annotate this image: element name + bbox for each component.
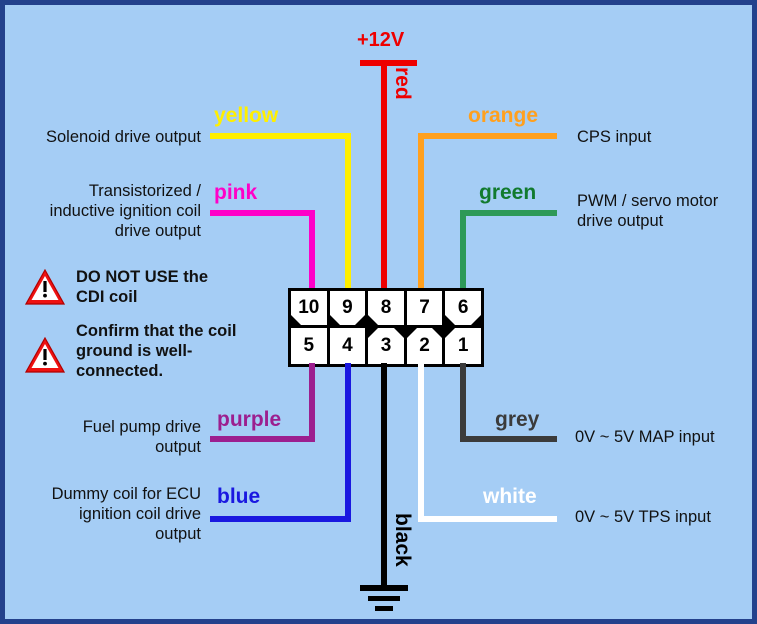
pin-5[interactable]: 5	[291, 328, 330, 365]
pink-wire-vertical	[309, 210, 315, 292]
fuel-pump-label-line1: Fuel pump drive	[5, 417, 201, 437]
purple-wire-horizontal	[210, 436, 315, 442]
warning-text-2-line1: Confirm that the coil	[76, 322, 236, 340]
pin-4[interactable]: 4	[330, 328, 369, 365]
warning-text-2: Confirm that the coil ground is well- co…	[76, 321, 236, 381]
pin-6-notch-left-icon	[445, 315, 455, 325]
grey-wire-name: grey	[495, 409, 539, 431]
pin-7-label: 7	[419, 298, 430, 317]
orange-wire-horizontal	[418, 133, 557, 139]
white-wire-horizontal	[418, 516, 557, 522]
pin-1-label: 1	[458, 336, 469, 355]
purple-wire-vertical	[309, 363, 315, 442]
fuel-pump-label-line2: output	[5, 437, 201, 457]
warning-triangle-icon	[25, 269, 65, 310]
transistorized-coil-label-line3: drive output	[5, 221, 201, 241]
power-label: +12V	[357, 29, 404, 51]
pin-3-label: 3	[381, 336, 392, 355]
ground-symbol-bar-3	[375, 606, 393, 611]
pin-9-label: 9	[342, 298, 353, 317]
black-wire-name: black	[390, 513, 414, 567]
pin-10[interactable]: 10	[291, 291, 330, 325]
dummy-coil-label-line1: Dummy coil for ECU	[5, 484, 201, 504]
pin-2-notch-left-icon	[407, 328, 417, 338]
connector-bottom-row: 5 4 3 2 1	[291, 328, 481, 365]
pin-3-notch-left-icon	[368, 328, 378, 338]
white-wire-vertical	[418, 363, 424, 522]
pin-8[interactable]: 8	[368, 291, 407, 325]
grey-wire-horizontal	[460, 436, 557, 442]
pin-7[interactable]: 7	[407, 291, 446, 325]
pin-9[interactable]: 9	[330, 291, 369, 325]
red-wire-vertical	[381, 60, 387, 292]
pin-6[interactable]: 6	[445, 291, 481, 325]
pin-3[interactable]: 3	[368, 328, 407, 365]
blue-wire-name: blue	[217, 486, 260, 508]
ground-symbol-bar-1	[360, 585, 408, 591]
pin-4-label: 4	[342, 336, 353, 355]
pink-wire-horizontal	[210, 210, 315, 216]
wiring-diagram-canvas: +12V red yellow Solenoid drive output pi…	[0, 0, 757, 624]
pin-6-label: 6	[458, 298, 469, 317]
connector-top-row: 10 9 8 7 6	[291, 291, 481, 328]
yellow-wire-vertical	[345, 133, 351, 292]
pin-2-notch-right-icon	[432, 328, 442, 338]
pin-8-notch-icon	[368, 315, 378, 325]
warning-text-1: DO NOT USE the CDI coil	[76, 267, 208, 307]
transistorized-coil-label-line2: inductive ignition coil	[5, 201, 201, 221]
ground-symbol-bar-2	[368, 596, 400, 601]
black-wire-vertical	[381, 363, 387, 588]
pin-5-label: 5	[304, 336, 315, 355]
pin-3-notch-right-icon	[394, 328, 404, 338]
transistorized-coil-label-line1: Transistorized /	[5, 181, 201, 201]
cps-input-label: CPS input	[577, 127, 757, 147]
blue-wire-horizontal	[210, 516, 351, 522]
grey-wire-vertical	[460, 363, 466, 442]
blue-wire-vertical	[345, 363, 351, 522]
connector-block: 10 9 8 7 6 5 4 3 2 1	[288, 288, 484, 367]
pink-wire-name: pink	[214, 182, 257, 204]
pin-6-notch-right-icon	[471, 315, 481, 325]
orange-wire-name: orange	[468, 105, 538, 127]
pwm-servo-label-line1: PWM / servo motor	[577, 191, 757, 211]
white-wire-name: white	[483, 486, 537, 508]
pwm-servo-label-line2: drive output	[577, 211, 757, 231]
pin-2[interactable]: 2	[407, 328, 446, 365]
pin-1-notch-icon	[445, 328, 455, 338]
warning-text-1-line1: DO NOT USE the	[76, 268, 208, 286]
pin-8-label: 8	[381, 298, 392, 317]
warning-triangle-icon	[25, 337, 65, 378]
yellow-wire-name: yellow	[214, 105, 278, 127]
orange-wire-vertical	[418, 133, 424, 292]
red-wire-top-bar	[360, 60, 417, 66]
pin-1[interactable]: 1	[445, 328, 481, 365]
warning-text-1-line2: CDI coil	[76, 288, 137, 306]
pin-2-label: 2	[419, 336, 430, 355]
solenoid-drive-output-label: Solenoid drive output	[5, 127, 201, 147]
warning-do-not-use-cdi-coil: DO NOT USE the CDI coil	[25, 267, 270, 310]
green-wire-name: green	[479, 182, 536, 204]
pin-10-notch-icon	[291, 315, 301, 325]
warning-confirm-coil-ground: Confirm that the coil ground is well- co…	[25, 321, 270, 381]
yellow-wire-horizontal	[210, 133, 351, 139]
warning-text-2-line3: connected.	[76, 362, 163, 380]
green-wire-vertical	[460, 210, 466, 292]
map-input-label: 0V ~ 5V MAP input	[575, 427, 757, 447]
dummy-coil-label-line3: output	[5, 524, 201, 544]
red-wire-name: red	[390, 67, 414, 100]
tps-input-label: 0V ~ 5V TPS input	[575, 507, 757, 527]
pin-10-label: 10	[298, 298, 319, 317]
dummy-coil-label-line2: ignition coil drive	[5, 504, 201, 524]
purple-wire-name: purple	[217, 409, 281, 431]
pin-9-notch-left-icon	[330, 315, 340, 325]
green-wire-horizontal	[460, 210, 557, 216]
warning-text-2-line2: ground is well-	[76, 342, 192, 360]
pin-9-notch-right-icon	[355, 315, 365, 325]
